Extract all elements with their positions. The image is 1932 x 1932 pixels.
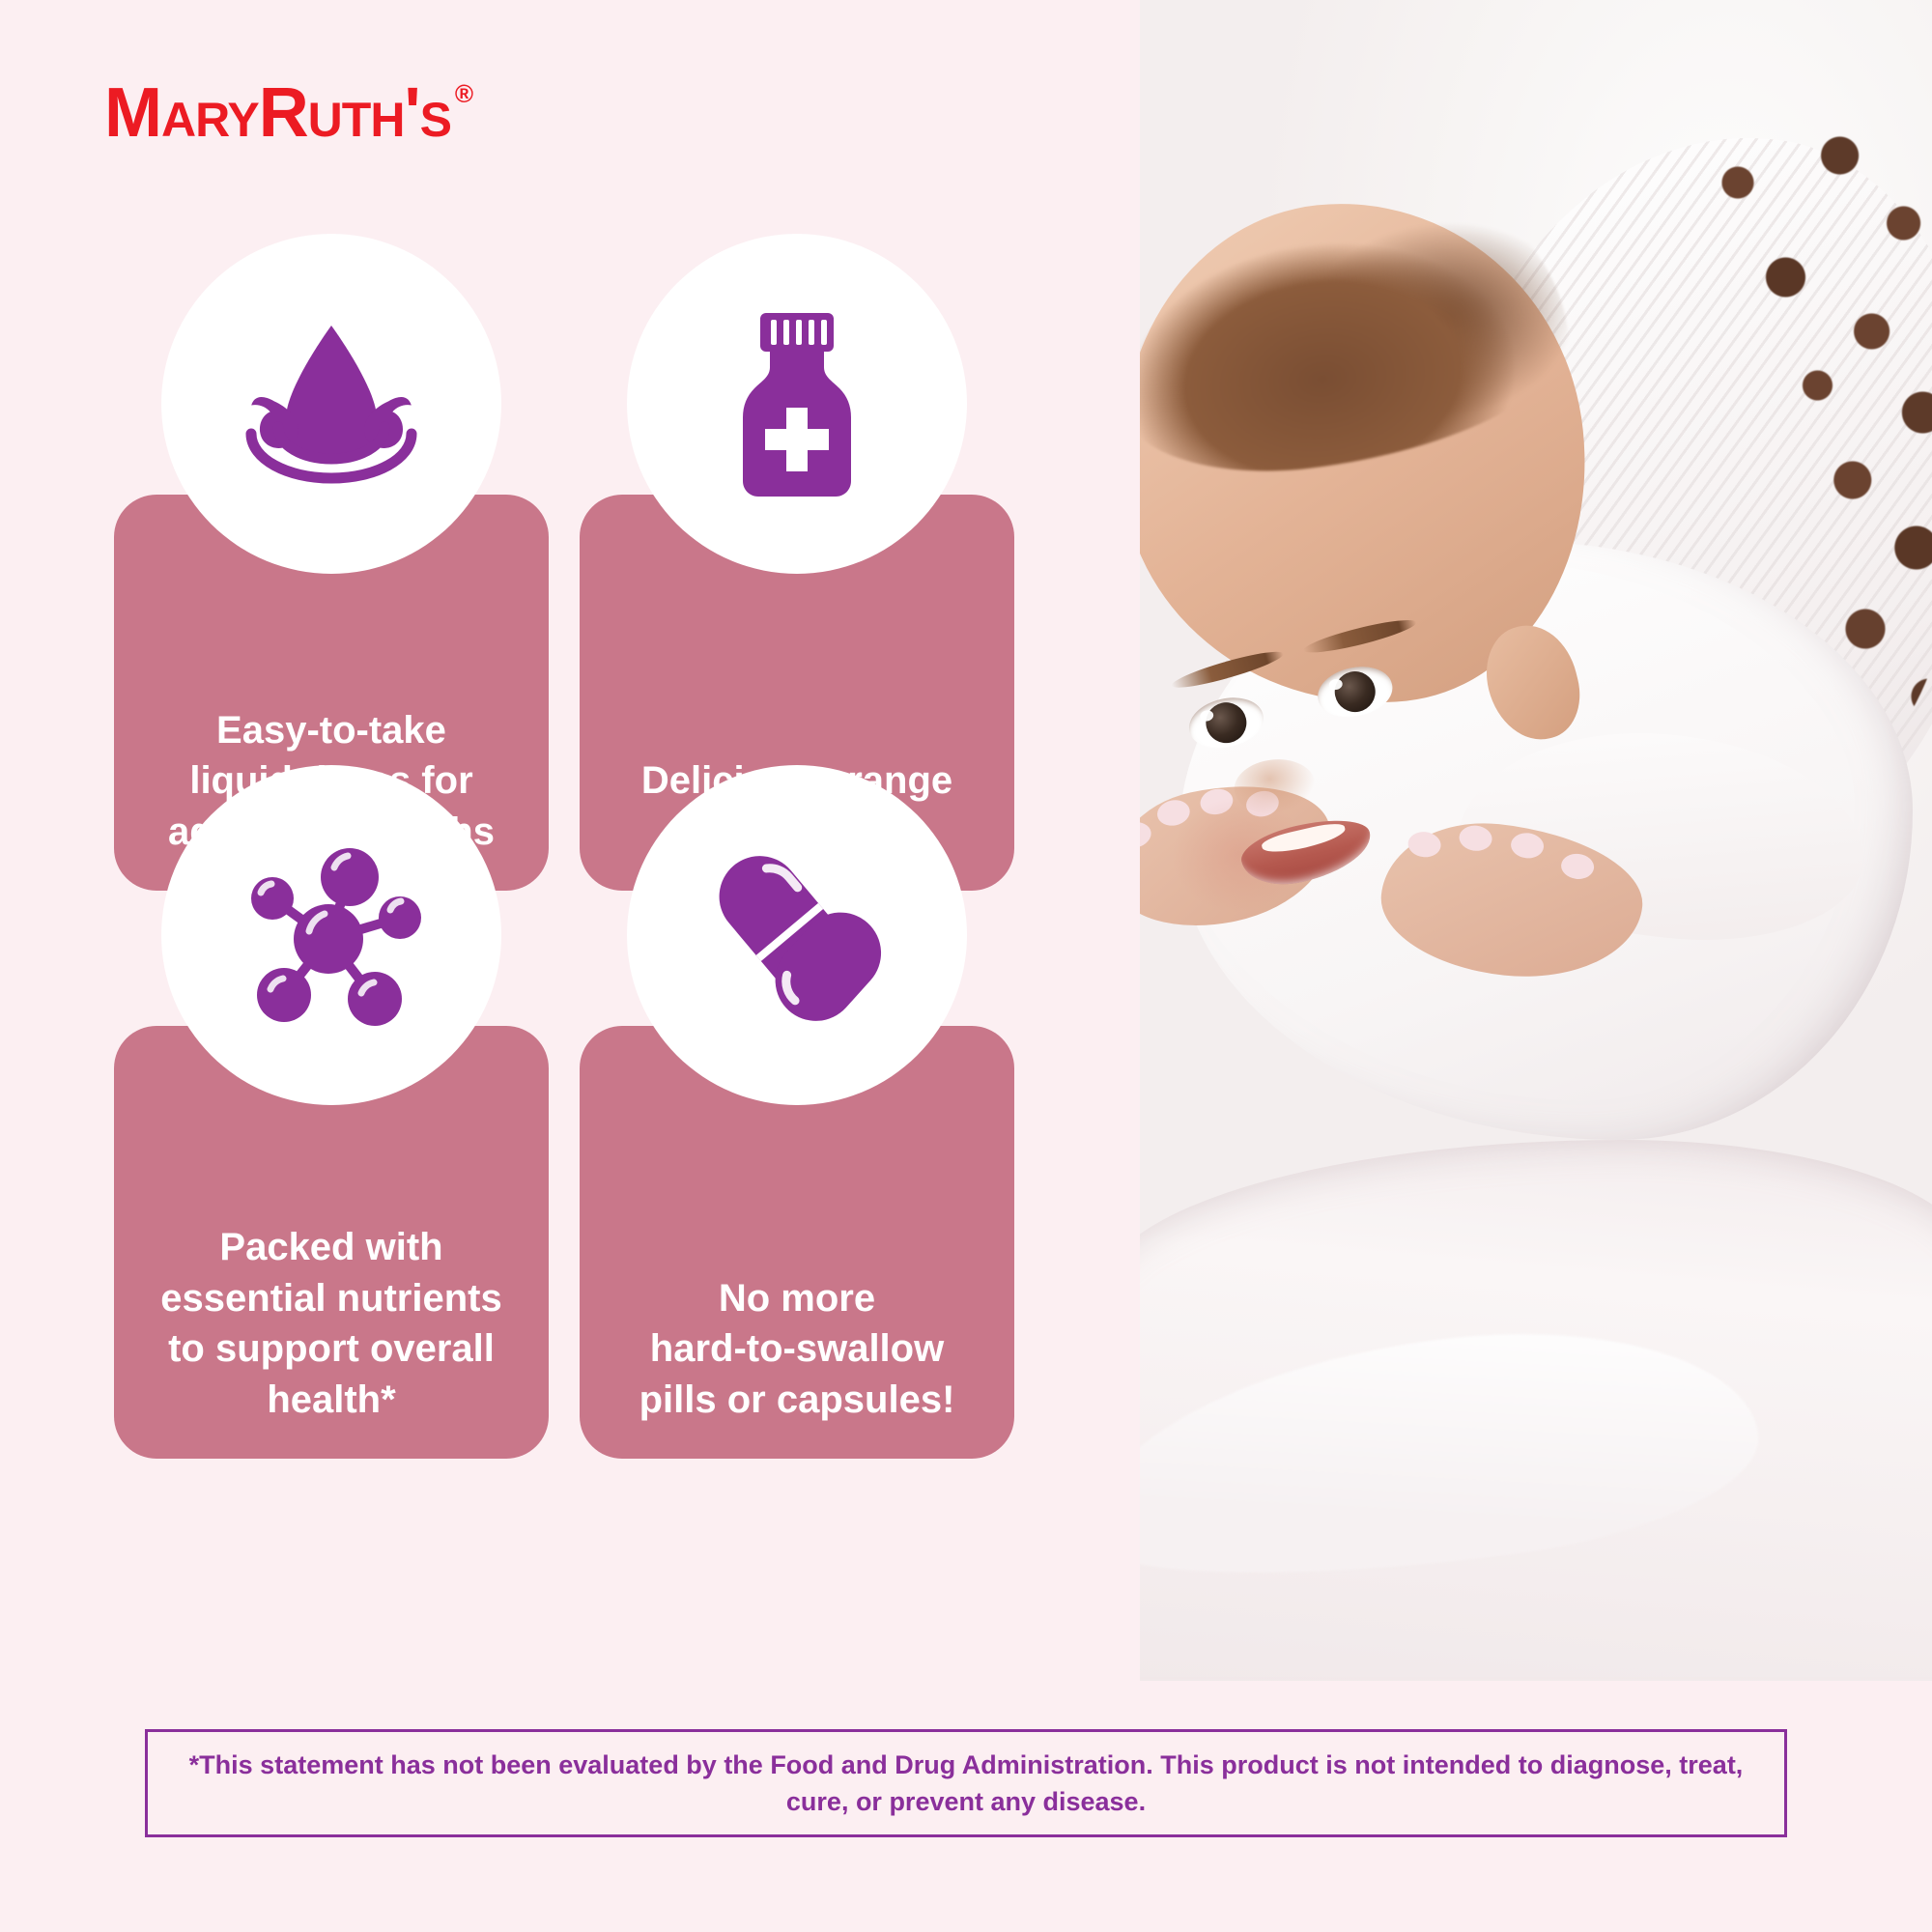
fda-disclaimer-text: *This statement has not been evaluated b… xyxy=(177,1747,1755,1821)
liquid-drop-icon xyxy=(230,312,433,496)
benefit-card-nutrients: Packed with essential nutrients to suppo… xyxy=(114,1026,549,1459)
icon-badge xyxy=(161,234,501,574)
logo-word-mary: Mary xyxy=(104,73,259,153)
maryruths-logo: Mary Ruth's ® xyxy=(104,73,472,153)
icon-badge xyxy=(161,765,501,1105)
capsules-icon xyxy=(696,838,898,1032)
benefit-card-no-pills: No more hard-to-swallow pills or capsule… xyxy=(580,1026,1014,1459)
icon-badge xyxy=(627,765,967,1105)
supplement-bottle-icon xyxy=(715,307,879,500)
molecule-icon xyxy=(230,838,433,1032)
fda-disclaimer-box: *This statement has not been evaluated b… xyxy=(145,1729,1787,1837)
registered-trademark-icon: ® xyxy=(455,81,472,106)
logo-word-ruths: Ruth's xyxy=(259,73,451,153)
icon-badge xyxy=(627,234,967,574)
benefit-card-text: No more hard-to-swallow pills or capsule… xyxy=(622,1273,973,1426)
baby-product-photo xyxy=(1140,0,1932,1681)
benefit-card-text: Packed with essential nutrients to suppo… xyxy=(143,1222,519,1426)
baby-eyebrow-right xyxy=(1301,614,1418,659)
